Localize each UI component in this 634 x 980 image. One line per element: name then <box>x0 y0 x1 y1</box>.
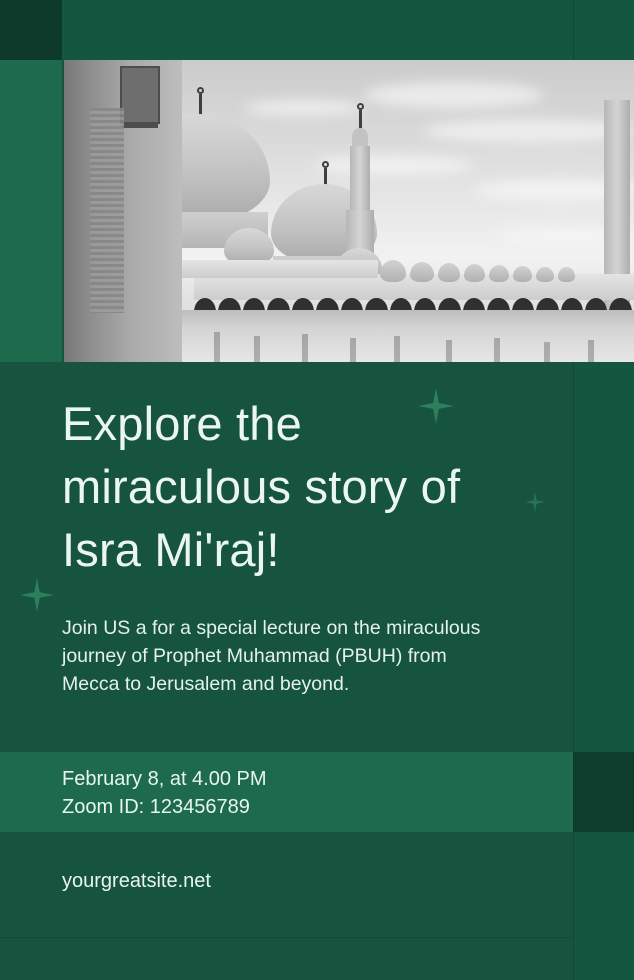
mosque-photo <box>64 60 634 362</box>
event-details-accent-block <box>573 752 634 832</box>
poster-headline: Explore the miraculous story of Isra Mi'… <box>62 392 532 581</box>
event-date-time: February 8, at 4.00 PM <box>62 765 267 793</box>
stone-pier <box>64 60 182 362</box>
mosque-photo-image <box>64 60 634 362</box>
website-url[interactable]: yourgreatsite.net <box>62 870 211 893</box>
top-band-block <box>62 0 634 60</box>
poster-canvas: Explore the miraculous story of Isra Mi'… <box>0 0 634 980</box>
pier-window <box>120 66 160 124</box>
corner-block-top-left <box>0 0 62 60</box>
poster-body-text: Join US a for a special lecture on the m… <box>62 614 482 698</box>
calligraphy-panel <box>90 108 124 313</box>
bottom-divider <box>0 937 573 938</box>
side-block-left <box>0 60 62 362</box>
event-details: February 8, at 4.00 PM Zoom ID: 12345678… <box>62 765 267 821</box>
event-zoom-id: Zoom ID: 123456789 <box>62 793 267 821</box>
sparkle-icon <box>20 578 54 612</box>
